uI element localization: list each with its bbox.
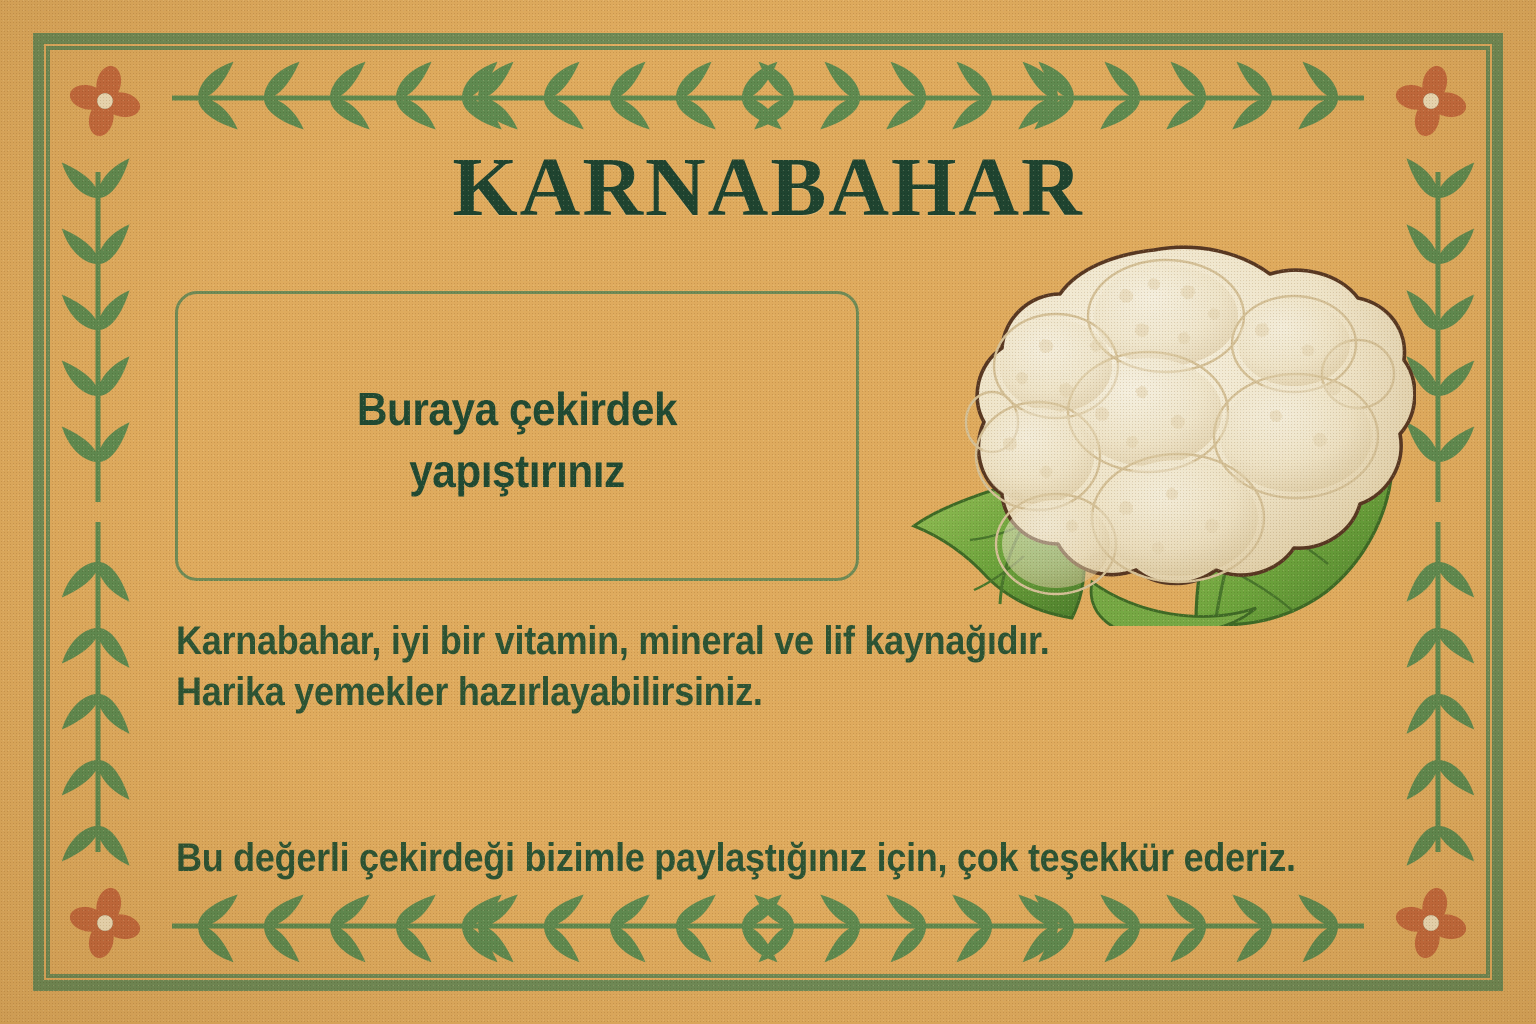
seed-paste-line-1: Buraya çekirdek xyxy=(205,378,829,440)
seed-paste-box[interactable]: Buraya çekirdek yapıştırınız xyxy=(175,291,859,581)
seed-paste-instruction: Buraya çekirdek yapıştırınız xyxy=(205,378,829,502)
seed-paste-line-2: yapıştırınız xyxy=(205,440,829,502)
page-title: KARNABAHAR xyxy=(0,146,1536,230)
description-line-1: Karnabahar, iyi bir vitamin, mineral ve … xyxy=(176,616,1238,667)
description-paragraph: Karnabahar, iyi bir vitamin, mineral ve … xyxy=(176,616,1238,718)
thanks-message: Bu değerli çekirdeği bizimle paylaştığın… xyxy=(176,833,1328,884)
cauliflower-illustration xyxy=(896,226,1416,626)
description-line-2: Harika yemekler hazırlayabilirsiniz. xyxy=(176,667,1238,718)
seed-label-card: KARNABAHAR Buraya çekirdek yapıştırınız xyxy=(0,0,1536,1024)
